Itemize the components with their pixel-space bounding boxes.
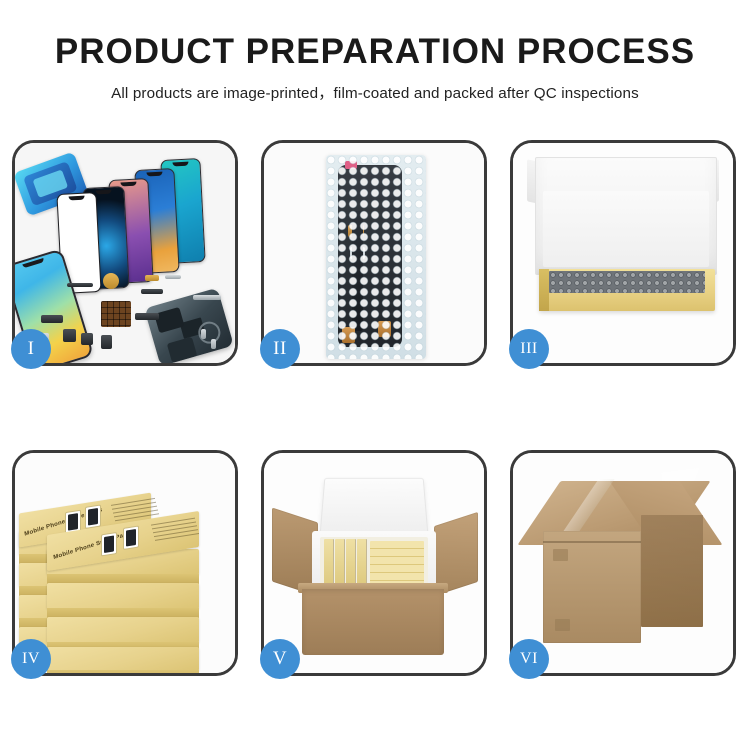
carton-seam-line <box>543 541 641 543</box>
page-title: PRODUCT PREPARATION PROCESS <box>0 34 750 71</box>
foam-carton-scene <box>264 453 484 673</box>
phone-parts-scene <box>15 143 235 363</box>
stacked-box-r4 <box>47 647 199 671</box>
box-phone-graphic-b <box>85 504 101 529</box>
inner-box-scene <box>513 143 733 363</box>
antenna-flex-part <box>135 313 159 320</box>
process-step-panel-1: I <box>12 140 238 366</box>
white-foam-sheet <box>543 191 709 267</box>
bubble-texture <box>326 155 426 359</box>
carton-tab-upper <box>553 549 568 561</box>
infographic-page: PRODUCT PREPARATION PROCESS All products… <box>0 0 750 750</box>
foam-cavity <box>320 537 428 589</box>
step-5-image <box>264 453 484 673</box>
packed-box-1 <box>324 539 333 587</box>
step-badge-3: III <box>509 329 549 369</box>
grey-bubble-wrapped-contents <box>549 271 705 293</box>
packed-boxes-group <box>322 539 426 587</box>
button-part <box>63 329 76 342</box>
bubble-wrap-pouch <box>326 155 426 359</box>
gold-connector-part <box>145 275 159 281</box>
process-step-panel-6: VI <box>510 450 736 676</box>
bubble-wrap-scene <box>264 143 484 363</box>
process-step-panel-4: Mobile Phone Spare Parts M <box>12 450 238 676</box>
speaker-module-part <box>103 273 119 289</box>
box-phone-graphic-c <box>101 532 117 557</box>
carton-side-face <box>641 515 703 627</box>
flex-strip-part-a <box>67 283 93 287</box>
step-badge-4: IV <box>11 639 51 679</box>
box-stack-scene: Mobile Phone Spare Parts M <box>15 453 235 673</box>
step-1-image <box>15 143 235 363</box>
screw-part-b <box>201 329 206 339</box>
step-2-image <box>264 143 484 363</box>
screw-part-c <box>211 339 216 349</box>
stacked-box-r3 <box>47 617 199 643</box>
retail-box-stack: Mobile Phone Spare Parts M <box>19 479 235 669</box>
screw-part-a <box>165 275 181 279</box>
foam-lid <box>319 478 428 537</box>
process-step-panel-2: II <box>261 140 487 366</box>
stacked-box-r2 <box>47 583 199 609</box>
camera-flex-part <box>41 315 63 323</box>
step-badge-5: V <box>260 639 300 679</box>
header: PRODUCT PREPARATION PROCESS All products… <box>0 0 750 103</box>
step-4-image: Mobile Phone Spare Parts M <box>15 453 235 673</box>
page-subtitle: All products are image-printed，film-coat… <box>0 81 750 103</box>
phone-display-fan <box>59 157 235 277</box>
box-phone-graphic-d <box>123 525 139 550</box>
packed-box-4 <box>357 539 366 587</box>
step-badge-1: I <box>11 329 51 369</box>
tray-left-lip <box>539 269 549 311</box>
process-steps-grid: I II <box>12 140 738 676</box>
sealed-carton-scene <box>513 453 733 673</box>
packed-box-3 <box>346 539 355 587</box>
chip-array-part <box>101 301 131 327</box>
process-step-panel-3: III <box>510 140 736 366</box>
tweezers-part <box>193 295 221 300</box>
step-3-image <box>513 143 733 363</box>
step-badge-2: II <box>260 329 300 369</box>
taptic-part <box>101 335 112 349</box>
carton-body <box>302 589 444 655</box>
step-badge-6: VI <box>509 639 549 679</box>
packed-box-2 <box>335 539 344 587</box>
carton-tab-lower <box>555 619 570 631</box>
step-6-image <box>513 453 733 673</box>
vibrator-part <box>81 333 93 345</box>
process-step-panel-5: V <box>261 450 487 676</box>
packed-box-stack-right <box>370 541 424 585</box>
flex-strip-part-b <box>141 289 163 294</box>
